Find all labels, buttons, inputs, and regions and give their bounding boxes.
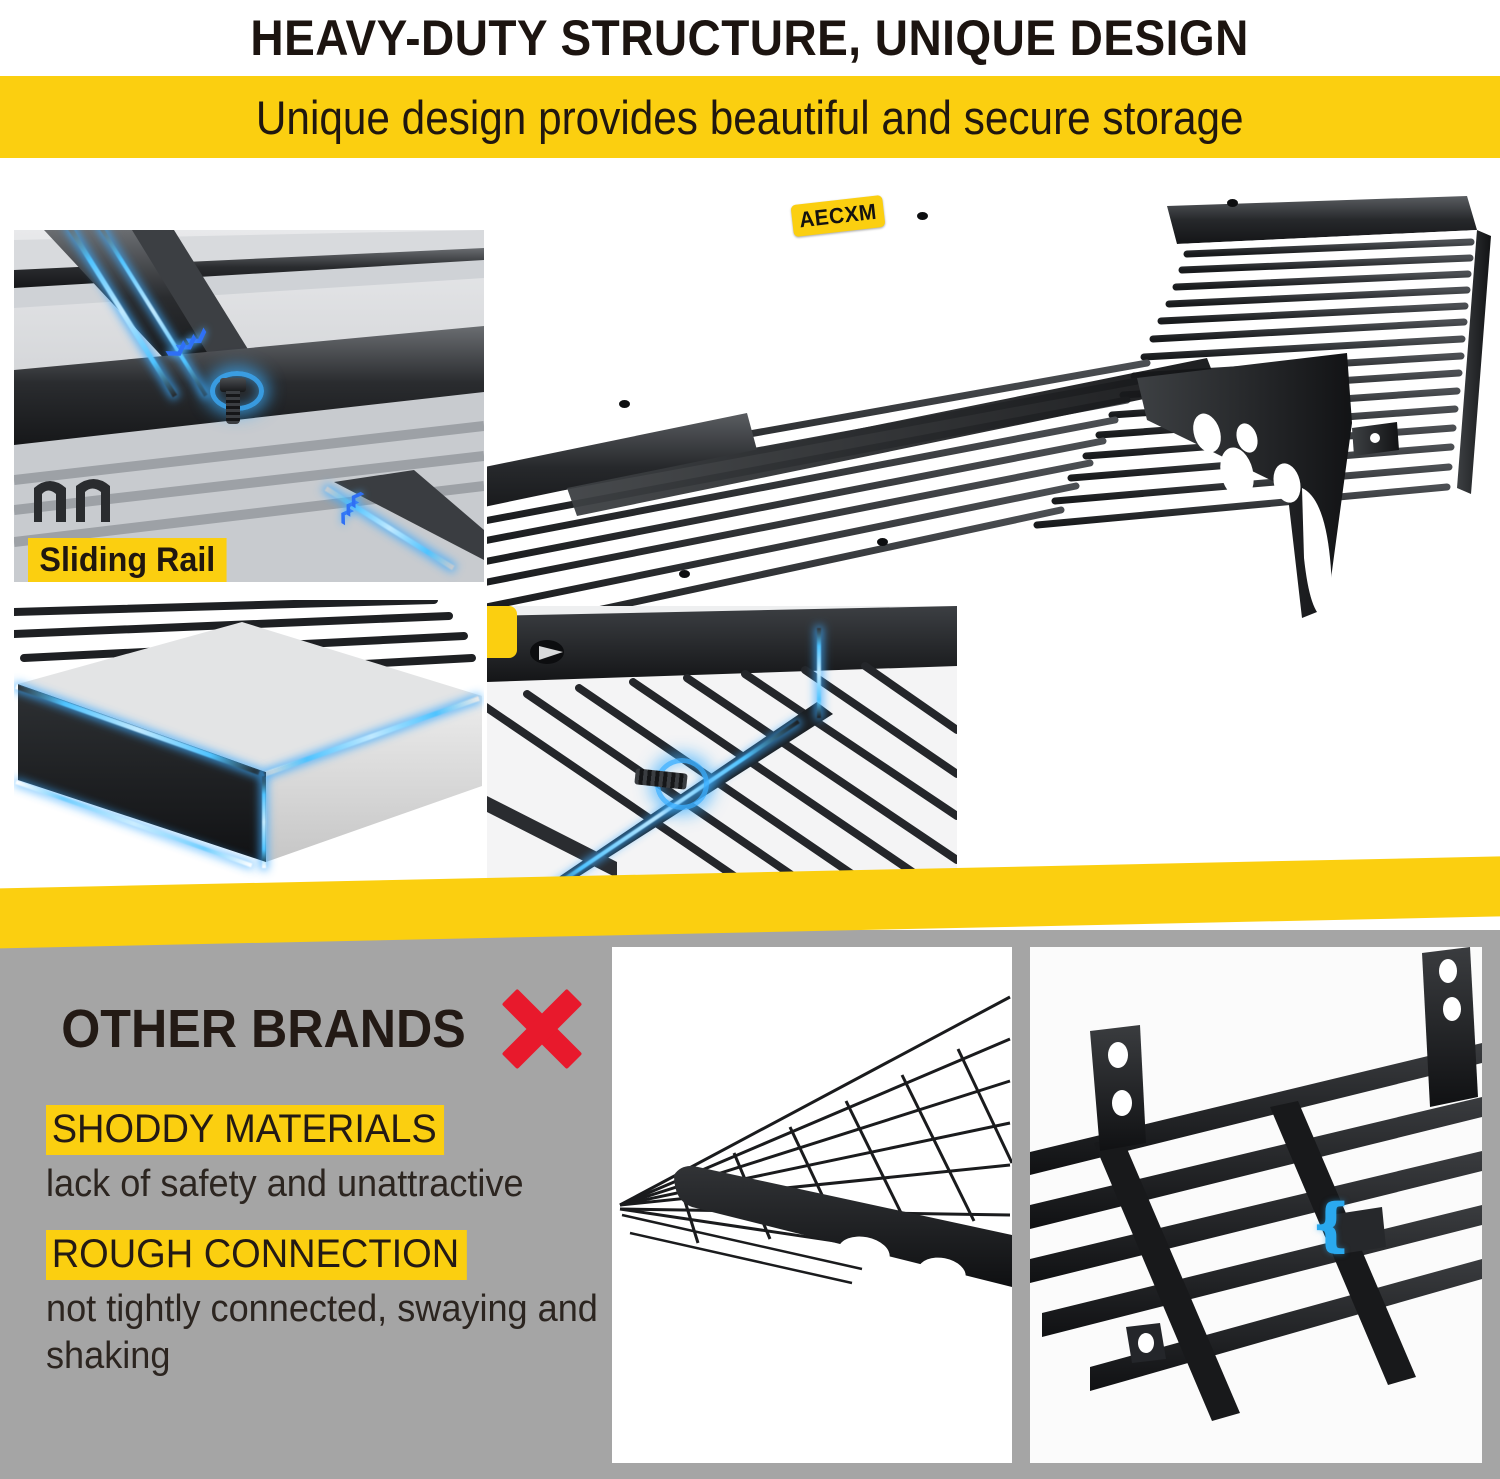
comparison-section: OTHER BRANDS SHODDY MATERIALS lack of sa… bbox=[0, 930, 1500, 1479]
blue-beam-vertical bbox=[817, 628, 821, 718]
other-brands-heading: OTHER BRANDS bbox=[46, 990, 581, 1068]
mounting-hole bbox=[1227, 199, 1238, 207]
corner-illustration bbox=[14, 600, 484, 890]
bullet-description: not tightly connected, swaying and shaki… bbox=[46, 1286, 607, 1382]
bolt-head bbox=[220, 378, 246, 392]
page-subtitle: Unique design provides beautiful and sec… bbox=[256, 90, 1244, 145]
bolt-beam-photo bbox=[487, 606, 957, 912]
shelf-illustration bbox=[487, 188, 1492, 658]
upper-feature-section: AECXM bbox=[0, 158, 1500, 918]
header-title-band: HEAVY-DUTY STRUCTURE, UNIQUE DESIGN bbox=[0, 0, 1500, 76]
bullet-shoddy-materials: SHODDY MATERIALS lack of safety and unat… bbox=[46, 1105, 549, 1208]
product-infographic: HEAVY-DUTY STRUCTURE, UNIQUE DESIGN Uniq… bbox=[0, 0, 1500, 1479]
beam-illustration bbox=[487, 606, 957, 912]
hero-product-photo: AECXM bbox=[487, 170, 1492, 670]
sliding-rail-caption-label: Sliding Rail bbox=[39, 541, 215, 580]
bullet-rough-connection: ROUGH CONNECTION not tightly connected, … bbox=[46, 1230, 636, 1381]
mounting-hole bbox=[917, 212, 928, 220]
brand-badge-label: AECXM bbox=[798, 199, 878, 234]
mesh-illustration bbox=[612, 947, 1012, 1463]
sliding-rail-caption: Sliding Rail bbox=[28, 538, 227, 582]
mounting-hole bbox=[679, 570, 690, 578]
mounting-hole bbox=[619, 400, 630, 408]
yellow-corner-tab bbox=[487, 606, 517, 658]
blue-arrow-annotation: ❴ bbox=[1308, 1197, 1355, 1253]
x-mark-icon bbox=[503, 990, 581, 1068]
competitor-frame-photo: ❴ bbox=[1030, 947, 1482, 1463]
blue-edge-glow bbox=[262, 776, 266, 868]
page-title: HEAVY-DUTY STRUCTURE, UNIQUE DESIGN bbox=[251, 9, 1249, 67]
mounting-hole bbox=[877, 538, 888, 546]
sliding-rail-photo: ❯❯❯ ❯❯❯ Sliding Rail bbox=[14, 230, 484, 582]
bullet-title: ROUGH CONNECTION bbox=[46, 1230, 467, 1280]
shelf-deck bbox=[487, 188, 1492, 658]
corner-thickness-photo bbox=[14, 600, 484, 890]
bullet-description: lack of safety and unattractive bbox=[46, 1161, 524, 1209]
header-subtitle-band: Unique design provides beautiful and sec… bbox=[0, 76, 1500, 158]
other-brands-label: OTHER BRANDS bbox=[61, 998, 466, 1060]
frame-illustration bbox=[1030, 947, 1482, 1463]
bolt-shaft bbox=[226, 391, 240, 424]
bullet-title: SHODDY MATERIALS bbox=[46, 1105, 444, 1155]
competitor-mesh-photo bbox=[612, 947, 1012, 1463]
bolt-icon bbox=[220, 378, 246, 424]
